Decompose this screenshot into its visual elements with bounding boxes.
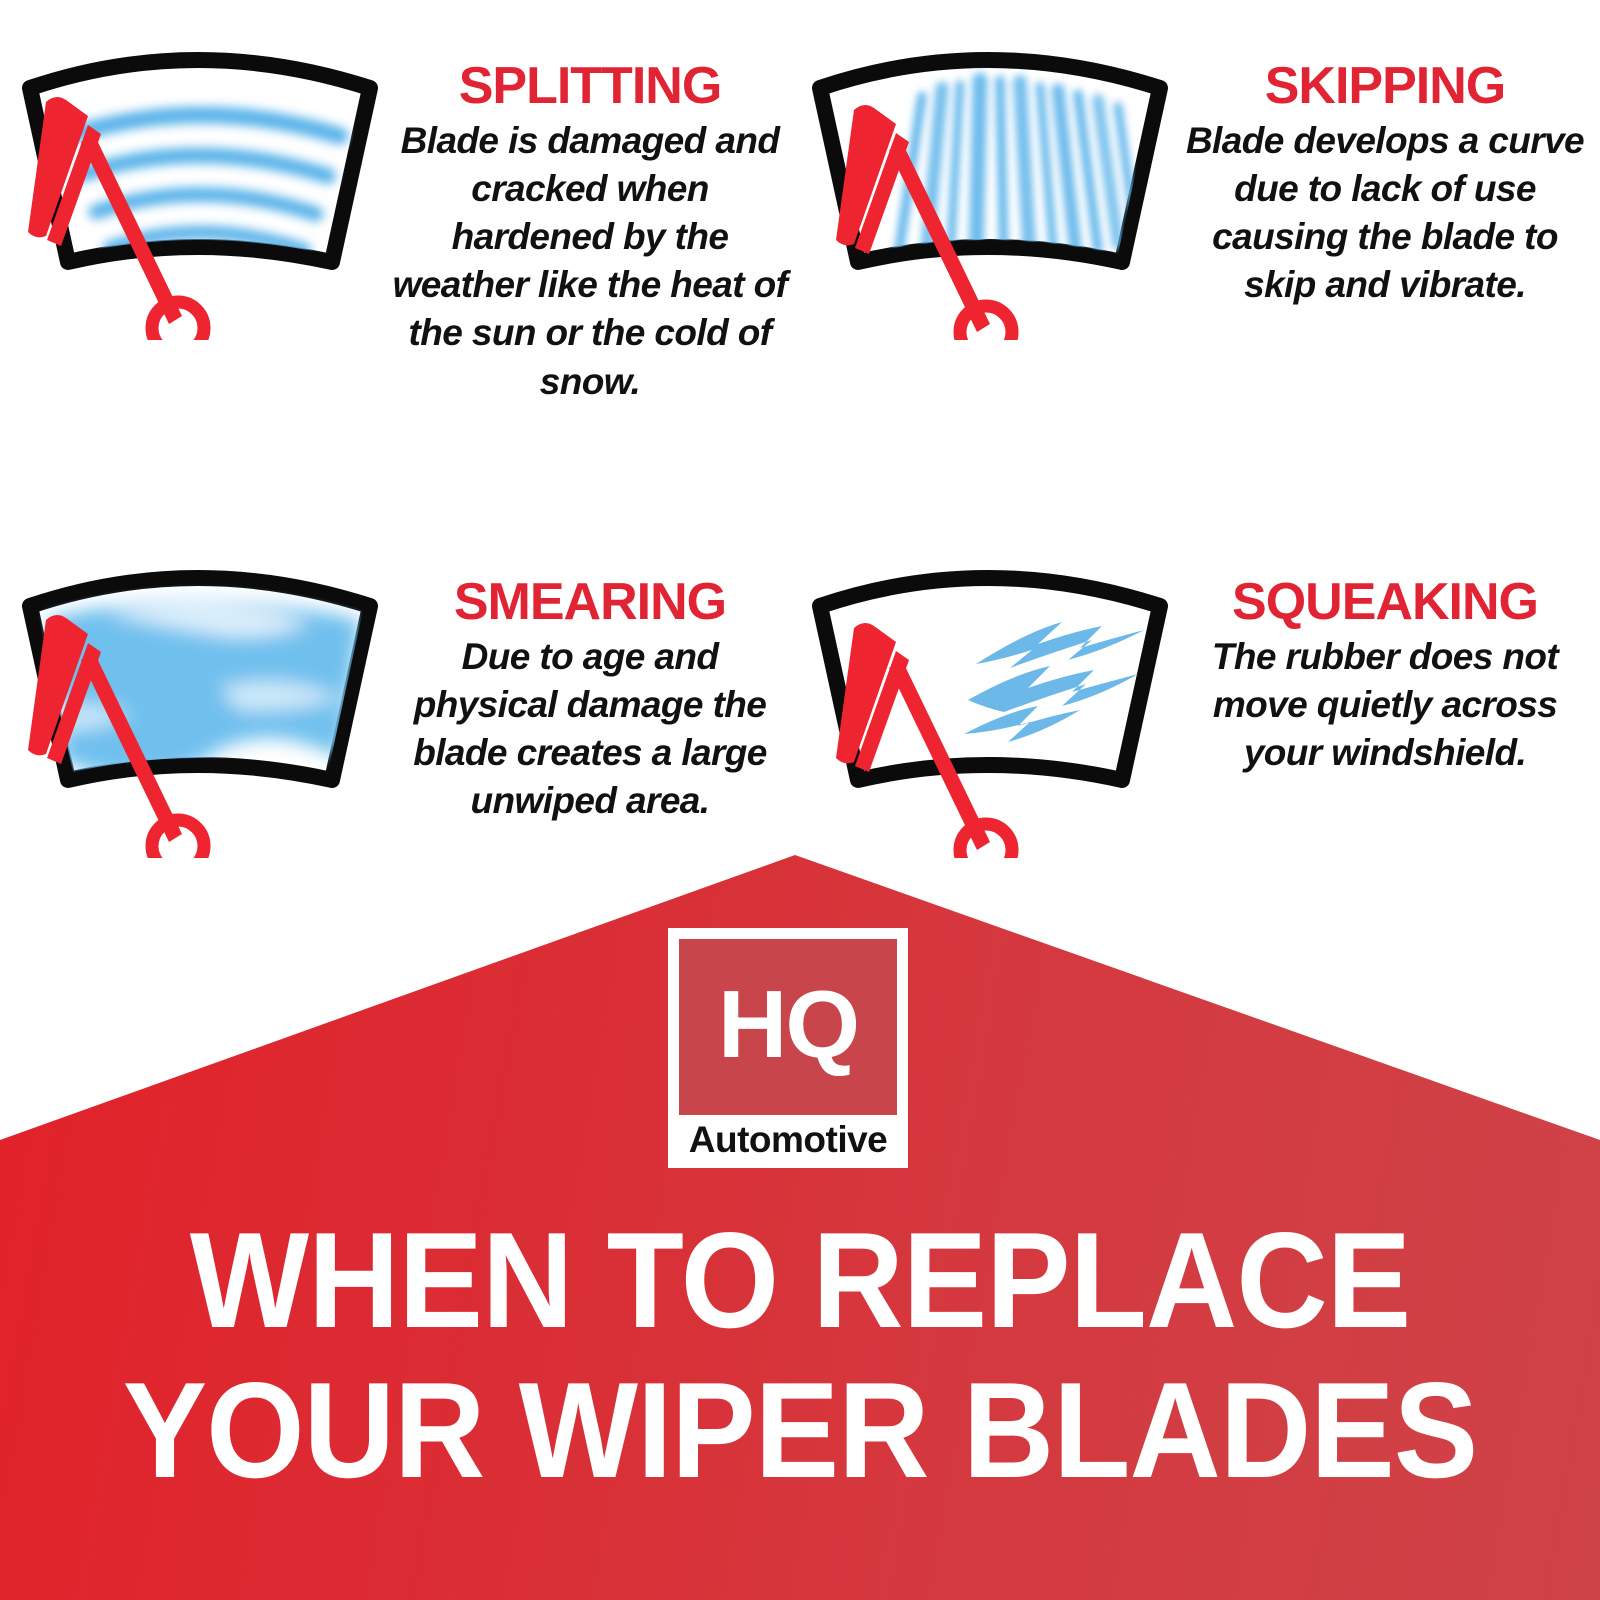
- symptom-text-skipping: SKIPPING Blade develops a curve due to l…: [1180, 30, 1590, 309]
- symptom-card-splitting: SPLITTING Blade is damaged and cracked w…: [10, 30, 790, 406]
- symptom-description: The rubber does not move quietly across …: [1180, 633, 1590, 777]
- symptom-description: Blade develops a curve due to lack of us…: [1180, 117, 1590, 309]
- wiper-arcs-icon: [10, 30, 390, 340]
- symptom-card-smearing: SMEARING Due to age and physical damage …: [10, 548, 790, 858]
- logo-mark-text: HQ: [718, 977, 858, 1073]
- headline-line-1: WHEN TO REPLACE: [56, 1205, 1544, 1355]
- symptom-title: SPLITTING: [390, 60, 790, 113]
- logo-wordmark: Automotive: [679, 1115, 897, 1165]
- symptom-text-squeaking: SQUEAKING The rubber does not move quiet…: [1180, 548, 1590, 777]
- symptom-text-smearing: SMEARING Due to age and physical damage …: [390, 548, 790, 825]
- symptom-card-skipping: SKIPPING Blade develops a curve due to l…: [800, 30, 1590, 340]
- symptom-title: SMEARING: [390, 576, 790, 629]
- hq-automotive-logo: HQ Automotive: [668, 928, 908, 1168]
- symptom-card-squeaking: SQUEAKING The rubber does not move quiet…: [800, 548, 1590, 858]
- symptom-grid: SPLITTING Blade is damaged and cracked w…: [0, 0, 1600, 860]
- headline: WHEN TO REPLACE YOUR WIPER BLADES: [0, 1205, 1600, 1505]
- infographic-page: SPLITTING Blade is damaged and cracked w…: [0, 0, 1600, 1600]
- headline-line-2: YOUR WIPER BLADES: [56, 1355, 1544, 1505]
- logo-mark-box: HQ: [679, 939, 897, 1115]
- wiper-smear-icon: [10, 548, 390, 858]
- symptom-description: Due to age and physical damage the blade…: [390, 633, 790, 825]
- symptom-title: SKIPPING: [1180, 60, 1590, 113]
- symptom-description: Blade is damaged and cracked when harden…: [390, 117, 790, 406]
- symptom-text-splitting: SPLITTING Blade is damaged and cracked w…: [390, 30, 790, 406]
- wiper-streaks-icon: [800, 30, 1180, 340]
- wiper-squeak-icon: [800, 548, 1180, 858]
- symptom-title: SQUEAKING: [1180, 576, 1590, 629]
